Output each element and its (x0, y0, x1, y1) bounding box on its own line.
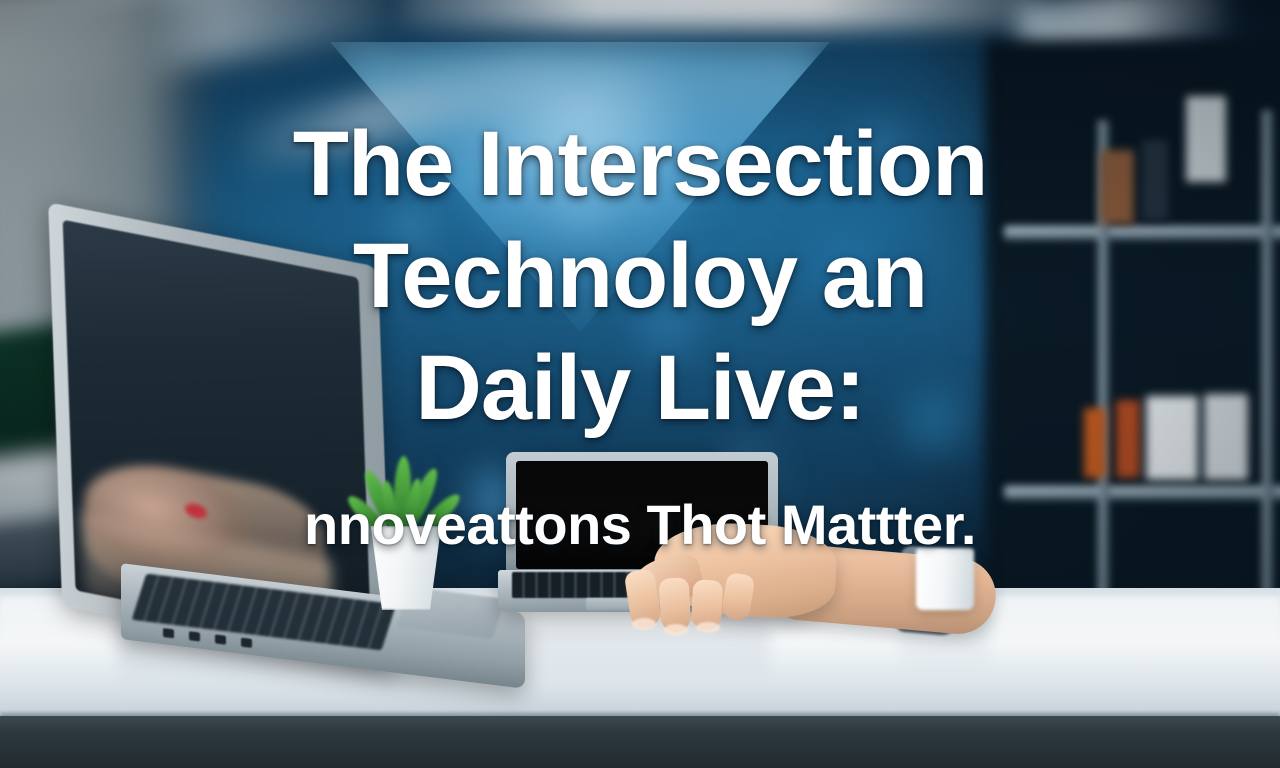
subtitle-line: nnoveattons Thot Mattter. (0, 492, 1280, 558)
hero-banner-image: The Intersection Technoloy an Daily Live… (0, 0, 1280, 768)
headline-line-2: Technoloy an (0, 222, 1280, 330)
text-overlay: The Intersection Technoloy an Daily Live… (0, 0, 1280, 768)
headline-line-1: The Intersection (0, 110, 1280, 218)
headline-line-3: Daily Live: (0, 334, 1280, 442)
